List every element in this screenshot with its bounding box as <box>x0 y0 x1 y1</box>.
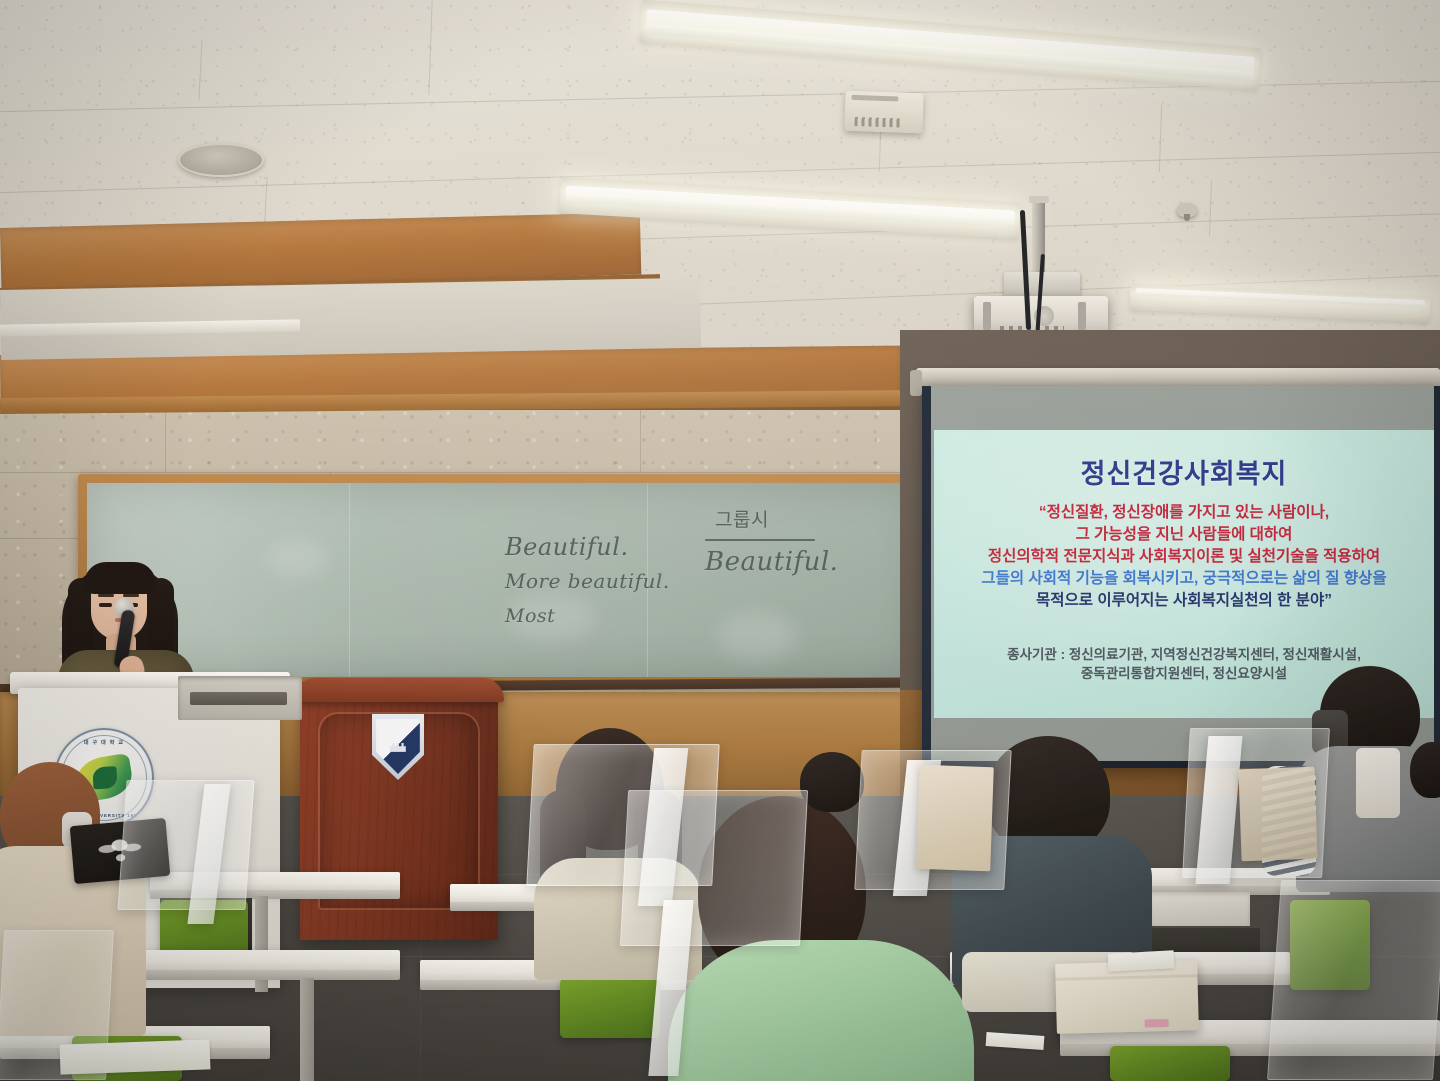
presenter-eyebrow <box>98 594 114 597</box>
paper-bag <box>916 765 994 872</box>
whiteboard-text-beautiful: Beautiful. <box>505 533 629 561</box>
whiteboard-reflection <box>267 541 327 575</box>
slide-body-line: “정신질환, 정신장애를 가지고 있는 사람이나, <box>942 502 1426 524</box>
slide-footer-line: 종사기관 : 정신의료기관, 지역정신건강복지센터, 정신재활시설, <box>942 645 1426 665</box>
cardboard-box <box>1055 960 1199 1034</box>
whiteboard-text-korean-heading: 그룹시 <box>715 505 769 532</box>
stone-joint <box>0 472 930 473</box>
lectern-top-surface <box>294 678 504 702</box>
desk-modesty-panel <box>1150 892 1250 926</box>
student-collar <box>1356 748 1400 818</box>
ceiling-speaker-box <box>844 91 923 134</box>
ceiling-recess <box>0 278 701 360</box>
acrylic-divider <box>620 790 808 946</box>
slide-body-line: 그 가능성을 지닌 사람들에 대하여 <box>942 524 1426 546</box>
paper-sheet <box>60 1039 211 1074</box>
box-label <box>1145 1019 1169 1028</box>
student-head <box>800 752 864 812</box>
slide-body-line: 그들의 사회적 기능을 회복시키고, 궁극적으로는 삶의 질 향상을 <box>942 568 1426 590</box>
acrylic-divider <box>117 780 254 910</box>
student-body <box>668 940 974 1081</box>
slide-body: “정신질환, 정신장애를 가지고 있는 사람이나, 그 가능성을 지닌 사람들에… <box>942 502 1426 612</box>
whiteboard-underline <box>705 539 815 541</box>
screen-border-left <box>922 386 931 768</box>
chair <box>1110 1046 1230 1081</box>
presenter-hair-fringe <box>84 562 156 594</box>
paper-sheet <box>1108 950 1175 971</box>
podium-shelf-cavity <box>190 692 287 705</box>
screen-border-right <box>1434 386 1440 768</box>
ceiling-dome-light <box>178 143 264 177</box>
projector-ceiling-plate <box>1029 196 1049 203</box>
stone-joint <box>165 410 166 472</box>
whiteboard-text-more-beautiful: More beautiful. <box>505 569 670 593</box>
podium-equipment-shelf <box>178 676 302 720</box>
presenter-eyebrow <box>123 594 139 597</box>
screen-roller-casing <box>916 368 1440 388</box>
stone-joint <box>640 410 641 472</box>
acrylic-divider <box>1267 880 1440 1080</box>
whiteboard-panel-seam <box>349 483 350 677</box>
lecture-hall-photo: Beautiful. More beautiful. Most 그룹시 Beau… <box>0 0 1440 1081</box>
whiteboard[interactable]: Beautiful. More beautiful. Most 그룹시 Beau… <box>87 483 921 677</box>
chair <box>560 978 660 1038</box>
sprinkler-head <box>1177 203 1197 217</box>
slide-body-line: 목적으로 이루어지는 사회복지실천의 한 분야” <box>942 590 1426 612</box>
whiteboard-text-beautiful-2: Beautiful. <box>705 547 838 577</box>
projector-vent <box>983 302 991 330</box>
seal-top-text: 대 구 대 학 교 <box>56 739 152 746</box>
projector-vent <box>1078 302 1086 330</box>
whiteboard-text-most: Most <box>505 605 555 627</box>
slide-body-line: 정신의학적 전문지식과 사회복지이론 및 실천기술을 적용하여 <box>942 546 1426 568</box>
whiteboard-reflection <box>717 611 797 661</box>
slide-title: 정신건강사회복지 <box>934 452 1434 491</box>
paper-bag <box>1238 767 1317 862</box>
presenter-eye <box>99 603 112 607</box>
desk-leg <box>300 978 314 1081</box>
